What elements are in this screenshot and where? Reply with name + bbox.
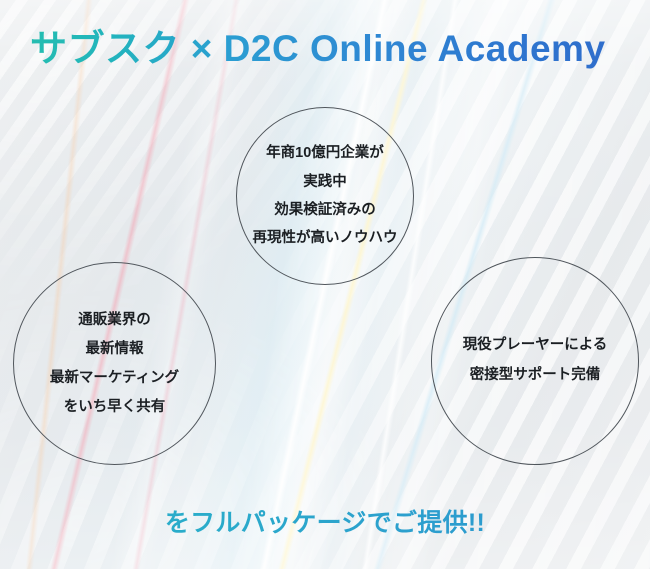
feature-circle-top: 年商10億円企業が 実践中 効果検証済みの 再現性が高いノウハウ xyxy=(236,107,414,285)
page-title: サブスク × D2C Online Academy xyxy=(30,18,606,72)
feature-circle-right-line-2: 密接型サポート完備 xyxy=(470,361,601,391)
feature-circle-left-line-2: 最新情報 xyxy=(86,335,144,364)
feature-circle-top-line-4: 再現性が高いノウハウ xyxy=(253,224,398,252)
feature-circle-top-line-2: 実践中 xyxy=(303,168,347,196)
feature-circle-right: 現役プレーヤーによる 密接型サポート完備 xyxy=(431,257,639,465)
feature-circle-top-line-1: 年商10億円企業が xyxy=(266,139,384,167)
promo-banner: サブスク × D2C Online Academy 年商10億円企業が 実践中 … xyxy=(0,0,650,569)
feature-circle-right-line-1: 現役プレーヤーによる xyxy=(463,331,608,361)
feature-circle-left-line-4: をいち早く共有 xyxy=(64,393,166,422)
feature-circle-left-line-1: 通販業界の xyxy=(78,306,151,335)
feature-circle-left: 通販業界の 最新情報 最新マーケティング をいち早く共有 xyxy=(13,262,216,465)
feature-circle-left-line-3: 最新マーケティング xyxy=(50,364,179,393)
feature-circle-top-line-3: 効果検証済みの xyxy=(274,196,376,224)
footer-tagline: をフルパッケージでご提供!! xyxy=(0,503,650,539)
